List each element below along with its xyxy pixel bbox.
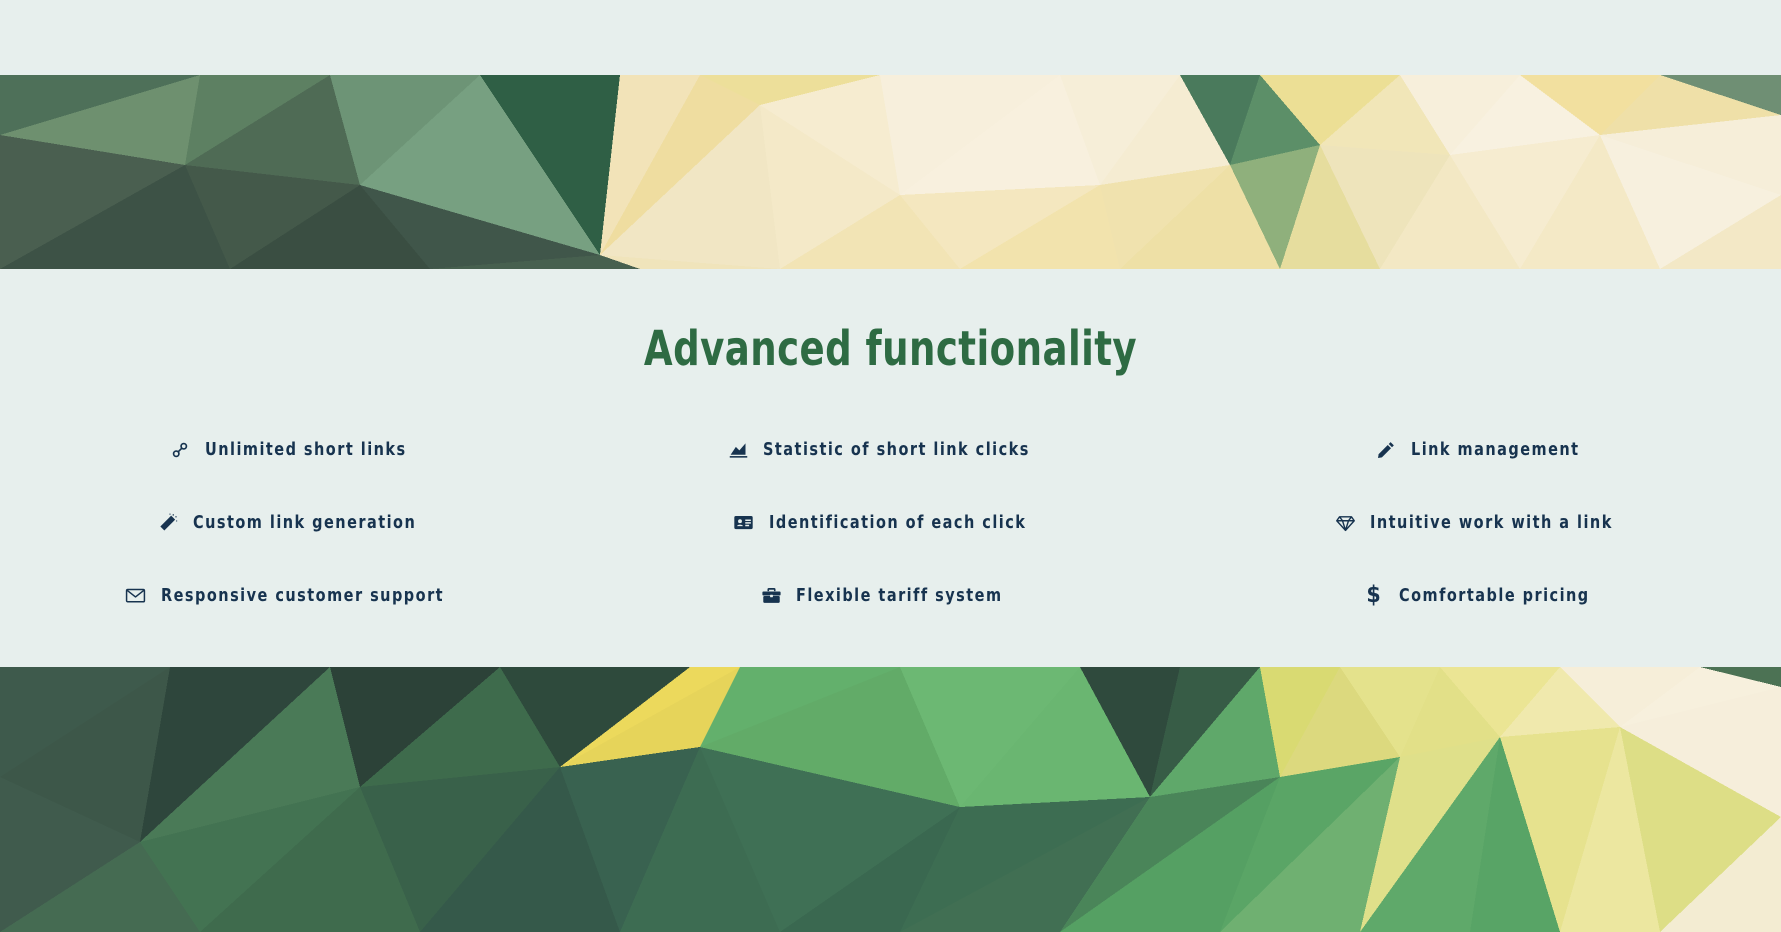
feature-item-responsive-customer-support[interactable]: Responsive customer support: [0, 559, 594, 632]
low-poly-geometric-banner-bottom: [0, 667, 1781, 932]
dollar-sign-icon: $: [1363, 585, 1385, 607]
link-chain-icon: [169, 439, 191, 461]
features-section: Advanced functionality Unlimited short l…: [0, 269, 1781, 667]
low-poly-geometric-banner-top: [0, 75, 1781, 269]
page-title: Advanced functionality: [125, 321, 1657, 377]
feature-label: Flexible tariff system: [796, 586, 1003, 606]
feature-item-unlimited-short-links[interactable]: Unlimited short links: [0, 413, 594, 486]
id-card-icon: [733, 512, 755, 534]
feature-item-custom-link-generation[interactable]: Custom link generation: [0, 486, 594, 559]
feature-label: Custom link generation: [193, 513, 416, 533]
feature-label: Comfortable pricing: [1399, 586, 1590, 606]
feature-grid: Unlimited short links Statistic of short…: [0, 413, 1781, 632]
feature-item-comfortable-pricing[interactable]: $ Comfortable pricing: [1187, 559, 1781, 632]
feature-item-identification-of-each-click[interactable]: Identification of each click: [594, 486, 1188, 559]
magic-wand-icon: [157, 512, 179, 534]
feature-label: Statistic of short link clicks: [763, 440, 1030, 460]
feature-label: Intuitive work with a link: [1370, 513, 1613, 533]
envelope-icon: [125, 585, 147, 607]
diamond-icon: [1334, 512, 1356, 534]
feature-item-flexible-tariff-system[interactable]: Flexible tariff system: [594, 559, 1188, 632]
briefcase-icon: [760, 585, 782, 607]
dollar-glyph: $: [1366, 584, 1380, 607]
feature-label: Responsive customer support: [161, 586, 444, 606]
feature-item-intuitive-work-with-a-link[interactable]: Intuitive work with a link: [1187, 486, 1781, 559]
feature-item-statistic-of-short-link-clicks[interactable]: Statistic of short link clicks: [594, 413, 1188, 486]
area-chart-icon: [727, 439, 749, 461]
feature-label: Link management: [1411, 440, 1580, 460]
feature-label: Unlimited short links: [205, 440, 407, 460]
feature-label: Identification of each click: [769, 513, 1026, 533]
feature-item-link-management[interactable]: Link management: [1187, 413, 1781, 486]
pencil-icon: [1375, 439, 1397, 461]
landing-page: Advanced functionality Unlimited short l…: [0, 0, 1781, 932]
